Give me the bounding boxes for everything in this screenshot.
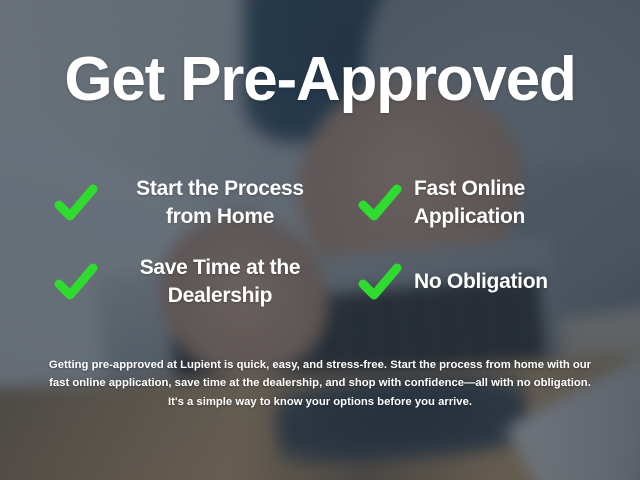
feature-item-start-the-process: Start the Process from Home	[0, 160, 340, 246]
feature-label-line1: Save Time at the	[140, 256, 301, 279]
check-icon	[52, 181, 100, 225]
feature-label-line1: Start the Process	[136, 177, 304, 200]
check-icon	[356, 181, 404, 225]
check-icon	[52, 260, 100, 304]
promo-banner: Get Pre-Approved Start the Process from …	[0, 0, 640, 480]
page-title: Get Pre-Approved	[0, 49, 640, 111]
feature-label: Save Time at the Dealership	[110, 254, 330, 309]
feature-item-no-obligation: No Obligation	[340, 246, 640, 318]
feature-label-line1: Fast Online	[414, 177, 525, 200]
feature-item-save-time-at-the-dealership: Save Time at the Dealership	[0, 246, 340, 318]
feature-label-line1: No Obligation	[414, 270, 548, 293]
feature-label: Start the Process from Home	[110, 175, 330, 230]
feature-label-line2: from Home	[166, 205, 274, 228]
feature-item-fast-online-application: Fast Online Application	[340, 160, 640, 246]
feature-label-line2: Application	[414, 205, 525, 228]
feature-list: Start the Process from Home Fast Online …	[0, 160, 640, 318]
feature-label-line2: Dealership	[168, 284, 272, 307]
check-icon	[356, 260, 404, 304]
banner-content: Get Pre-Approved Start the Process from …	[0, 0, 640, 480]
feature-label: Fast Online Application	[414, 175, 525, 230]
description-text: Getting pre-approved at Lupient is quick…	[46, 356, 594, 411]
feature-label: No Obligation	[414, 268, 548, 296]
